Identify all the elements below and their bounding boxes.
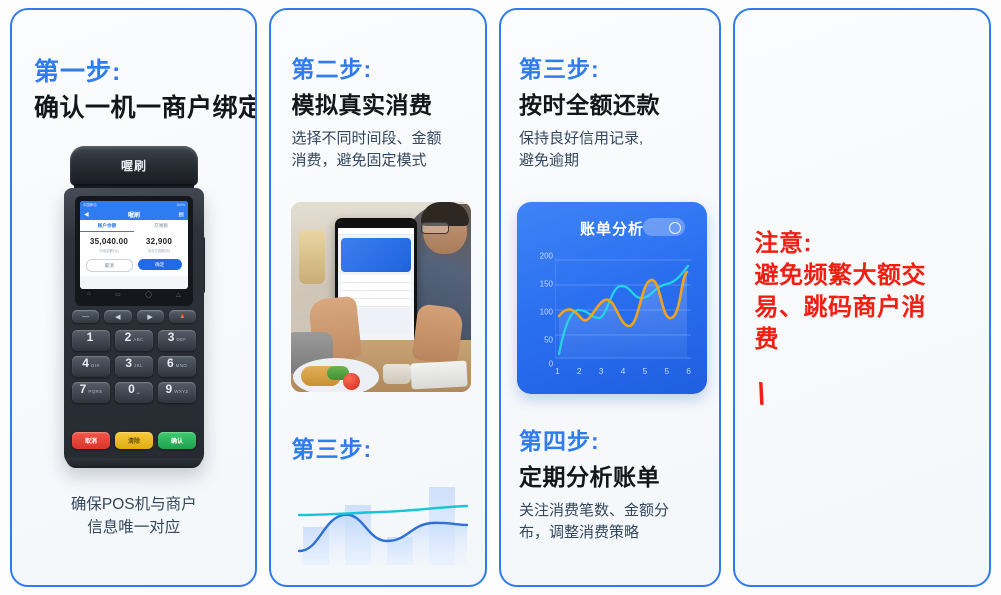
x-tick-1: 1 [555,366,560,376]
warning-line-2: 避免频繁大额交 [755,260,973,292]
y-tick-200: 200 [540,252,553,261]
warning-line-1: 注意: [755,228,973,260]
x-tick-3: 3 [599,366,604,376]
y-tick-150: 150 [540,280,553,289]
card-step-3: 第三步: 按时全额还款 保持良好信用记录, 避免逾期 账单分析 200 150 … [499,8,721,587]
screen-nav-bar: ◀ 喔刷 ▤ [80,208,188,220]
key-2-sub: ABC [133,337,143,342]
pos-softkey-row: ⌂ ▭ ◯ △ [75,287,193,301]
action-key-clear[interactable]: 清除 [115,432,153,449]
phone-list-row [341,275,411,283]
fn-key-left[interactable]: ◀ [104,310,131,323]
screen-tab-balance[interactable]: 账户余额 [80,220,134,232]
glasses-icon [421,222,449,234]
y-tick-0: 0 [549,360,553,369]
screen-confirm-button[interactable]: 确定 [138,259,183,270]
chart-y-axis-labels: 200 150 100 50 0 [523,252,553,368]
stat-volume-value: 32,900 [134,237,184,246]
step-2-title: 模拟真实消费 [291,86,432,120]
pos-keypad: 1 2ABC 3DEF 4GHI 3JKL 6MNO 7PQRS 0␣ 9WXY… [72,330,196,403]
action-key-cancel[interactable]: 取消 [72,432,110,449]
chart-x-axis-labels: 1 2 3 4 5 5 6 [555,366,691,376]
status-battery: 100% [176,203,185,207]
stat-volume-caption: 本月交易额(元) [134,248,184,253]
card-step-2: 第二步: 模拟真实消费 选择不同时间段、金额 消费，避免固定模式 [269,8,487,587]
key-2-digit: 2 [125,330,132,344]
key-6[interactable]: 6MNO [158,356,196,377]
pos-base [66,458,202,468]
key-0-digit: 0 [128,382,135,396]
recent-icon[interactable]: ▭ [115,291,121,298]
pos-brand-logo: 喔刷 [70,157,198,174]
card-warning: 注意: 避免频繁大额交 易、跳码商户消 费 \ [733,8,991,587]
screen-nav-title: 喔刷 [128,210,140,219]
key-4-sub: GHI [91,363,100,368]
step-2-desc-line-1: 选择不同时间段、金额 [291,128,475,150]
payment-scene-photo [291,202,471,392]
screen-stat-balance: 35,040.00 可用余额(元) [84,237,134,253]
step-4-label: 第四步: [519,422,600,456]
x-tick-5: 5 [643,366,648,376]
step-3-desc-line-2: 避免逾期 [519,150,707,172]
key-5[interactable]: 3JKL [115,356,153,377]
card-1-footer: 确保POS机与商户 信息唯一对应 [12,493,255,540]
key-9[interactable]: 9WXYZ [158,382,196,403]
key-0[interactable]: 0␣ [115,382,153,403]
x-tick-6: 5 [664,366,669,376]
step-2-description: 选择不同时间段、金额 消费，避免固定模式 [291,128,475,172]
key-5-digit: 3 [125,356,132,370]
key-6-sub: MNO [176,363,187,368]
bill-analysis-chart [555,258,691,362]
screen-tabs: 账户余额 交易额 [80,220,188,232]
key-3-digit: 3 [168,330,175,344]
step-3-title: 按时全额还款 [519,86,660,120]
pos-body: 中国移动 100% ◀ 喔刷 ▤ 账户余额 交易额 [64,188,204,466]
slash-mark: \ [754,378,767,413]
phone-notch [338,221,414,228]
photo-jar [299,230,325,284]
circle-icon[interactable]: ◯ [145,291,152,298]
step-3-label: 第三步: [519,50,600,84]
x-tick-2: 2 [577,366,582,376]
key-2[interactable]: 2ABC [115,330,153,351]
key-6-digit: 6 [167,356,174,370]
y-tick-50: 50 [544,336,553,345]
screen-stats: 35,040.00 可用余额(元) 32,900 本月交易额(元) [80,232,188,255]
key-1[interactable]: 1 [72,330,110,351]
key-7[interactable]: 7PQRS [72,382,110,403]
photo-notebook [411,361,468,390]
x-tick-4: 4 [621,366,626,376]
pos-action-key-row: 取消 清除 确认 [72,432,196,449]
key-5-sub: JKL [134,363,143,368]
infographic-board: 第一步: 确认一机一商户绑定 喔刷 中国移动 100% ◀ 喔刷 [0,0,1001,595]
step-2-label: 第二步: [291,50,372,84]
toggle-switch-icon[interactable] [643,218,685,236]
key-7-sub: PQRS [88,389,102,394]
action-key-confirm[interactable]: 确认 [158,432,196,449]
key-0-sub: ␣ [137,389,140,395]
phone-balance-card [341,238,411,272]
status-carrier: 中国移动 [83,202,97,207]
warning-line-4: 费 [755,324,973,356]
more-icon[interactable]: ▤ [178,211,184,218]
screen-buttons: 取消 确定 [80,255,188,276]
screen-status-bar: 中国移动 100% [80,201,188,208]
key-9-digit: 9 [166,382,173,396]
key-4[interactable]: 4GHI [72,356,110,377]
photo-cup [383,364,411,384]
card-1-footer-line-1: 确保POS机与商户 [12,493,255,516]
step-4-description: 关注消费笔数、金额分 布，调整消费策略 [519,500,711,544]
pos-screen: 中国移动 100% ◀ 喔刷 ▤ 账户余额 交易额 [80,201,188,289]
step-3-description: 保持良好信用记录, 避免逾期 [519,128,707,172]
fn-key-menu[interactable]: — [72,310,99,323]
pos-function-key-row: — ◀ ▶ ▲ [72,310,196,323]
pos-printer-lid: 喔刷 [70,146,198,186]
fn-key-power[interactable]: ▲ [169,310,196,323]
warning-text: 注意: 避免频繁大额交 易、跳码商户消 费 [755,228,973,357]
screen-cancel-button[interactable]: 取消 [86,259,133,272]
pos-terminal-illustration: 喔刷 中国移动 100% ◀ 喔刷 ▤ [64,146,204,466]
bill-analysis-panel: 账单分析 200 150 100 50 0 [517,202,707,394]
key-4-digit: 4 [82,356,89,370]
step-4-title: 定期分析账单 [519,458,660,492]
key-3[interactable]: 3DEF [158,330,196,351]
key-9-sub: WXYZ [174,389,188,394]
phone-app-bar [338,228,414,235]
key-1-digit: 1 [87,330,94,344]
step-1-label: 第一步: [34,52,121,88]
photo-hand-right [412,303,464,364]
stat-balance-value: 35,040.00 [84,237,134,246]
step-1-title: 确认一机一商户绑定 [34,88,257,124]
step-2-desc-line-2: 消费，避免固定模式 [291,150,475,172]
screen-stat-volume: 32,900 本月交易额(元) [134,237,184,253]
key-7-digit: 7 [80,382,87,396]
step-4-desc-line-1: 关注消费笔数、金额分 [519,500,711,522]
card-1-footer-line-2: 信息唯一对应 [12,516,255,539]
stat-balance-caption: 可用余额(元) [84,248,134,253]
warning-line-3: 易、跳码商户消 [755,292,973,324]
step-3-desc-line-1: 保持良好信用记录, [519,128,707,150]
screen-tab-volume[interactable]: 交易额 [134,220,188,232]
toggle-knob [669,222,681,234]
x-tick-7: 6 [686,366,691,376]
card-step-1: 第一步: 确认一机一商户绑定 喔刷 中国移动 100% ◀ 喔刷 [10,8,257,587]
step-2-secondary-label: 第三步: [291,430,372,464]
home-icon[interactable]: ⌂ [87,291,91,297]
back-icon[interactable]: △ [176,291,181,298]
phone-list-row [341,283,411,291]
fn-key-right[interactable]: ▶ [137,310,164,323]
y-tick-100: 100 [540,308,553,317]
mini-bar-line-chart [289,465,477,565]
step-4-desc-line-2: 布，调整消费策略 [519,522,711,544]
key-3-sub: DEF [176,337,186,342]
back-arrow-icon[interactable]: ◀ [84,211,89,218]
